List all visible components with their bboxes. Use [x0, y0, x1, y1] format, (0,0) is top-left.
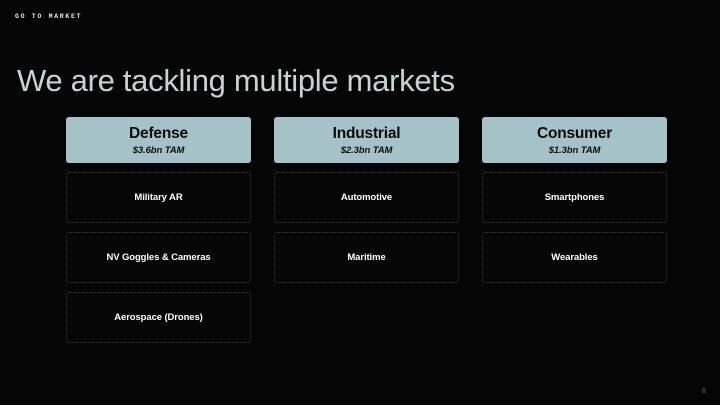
- market-item-cell[interactable]: Wearables: [482, 232, 667, 283]
- list-item-label: Aerospace (Drones): [114, 312, 202, 323]
- market-item-cell[interactable]: Maritime: [274, 232, 459, 283]
- list-item-label: NV Goggles & Cameras: [106, 252, 210, 263]
- column-header-defense: Defense $3.6bn TAM: [66, 117, 251, 163]
- slide-canvas: GO TO MARKET We are tackling multiple ma…: [0, 0, 720, 405]
- market-item-cell[interactable]: Automotive: [274, 172, 459, 223]
- market-columns: Defense $3.6bn TAM Military AR NV Goggle…: [66, 117, 668, 343]
- column-header-consumer: Consumer $1.3bn TAM: [482, 117, 667, 163]
- column-title: Consumer: [537, 125, 612, 142]
- market-item-cell[interactable]: Aerospace (Drones): [66, 292, 251, 343]
- section-eyebrow: GO TO MARKET: [15, 13, 82, 20]
- market-item-cell[interactable]: Smartphones: [482, 172, 667, 223]
- market-item-cell[interactable]: NV Goggles & Cameras: [66, 232, 251, 283]
- market-column-consumer: Consumer $1.3bn TAM Smartphones Wearable…: [482, 117, 667, 343]
- list-item-label: Maritime: [347, 252, 385, 263]
- market-column-defense: Defense $3.6bn TAM Military AR NV Goggle…: [66, 117, 251, 343]
- page-title: We are tackling multiple markets: [17, 63, 455, 99]
- page-number: 8: [702, 388, 706, 396]
- column-header-industrial: Industrial $2.3bn TAM: [274, 117, 459, 163]
- market-item-cell[interactable]: Military AR: [66, 172, 251, 223]
- list-item-label: Smartphones: [545, 192, 605, 203]
- market-column-industrial: Industrial $2.3bn TAM Automotive Maritim…: [274, 117, 459, 343]
- column-title: Defense: [129, 125, 188, 142]
- column-tam: $2.3bn TAM: [341, 145, 393, 156]
- column-tam: $3.6bn TAM: [133, 145, 185, 156]
- list-item-label: Military AR: [134, 192, 182, 203]
- list-item-label: Automotive: [341, 192, 392, 203]
- column-tam: $1.3bn TAM: [549, 145, 601, 156]
- column-title: Industrial: [333, 125, 401, 142]
- list-item-label: Wearables: [551, 252, 597, 263]
